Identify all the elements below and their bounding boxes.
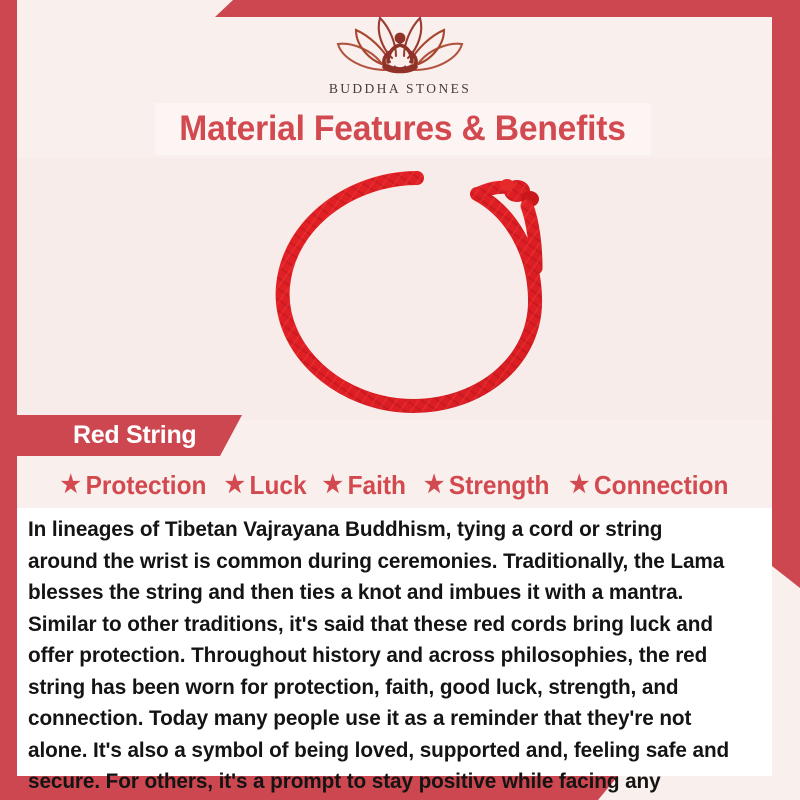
feature-list: ★ Protection ★ Luck ★ Faith ★ Strength ★… [17, 466, 772, 504]
feature-item-strength: ★ Strength [420, 470, 553, 501]
red-braided-string-bracelet-photo [249, 164, 589, 420]
star-icon: ★ [424, 473, 444, 497]
product-image [17, 158, 772, 420]
star-icon: ★ [569, 473, 589, 497]
feature-label: Luck [249, 470, 306, 501]
description-panel: In lineages of Tibetan Vajrayana Buddhis… [17, 508, 772, 776]
feature-label: Protection [85, 470, 206, 501]
star-icon: ★ [60, 473, 80, 497]
star-icon: ★ [224, 473, 244, 497]
feature-item-protection: ★ Protection [56, 470, 209, 501]
product-banner-label: Red String [73, 421, 196, 450]
product-banner: Red String [17, 415, 242, 456]
description-text: In lineages of Tibetan Vajrayana Buddhis… [28, 514, 737, 800]
feature-item-faith: ★ Faith [319, 470, 410, 501]
lotus-meditation-figure-icon [326, 14, 474, 80]
feature-item-luck: ★ Luck [221, 470, 310, 501]
feature-item-connection: ★ Connection [565, 470, 732, 501]
brand-name: BUDDHA STONES [329, 81, 471, 97]
feature-label: Strength [448, 470, 548, 501]
brand-logo: BUDDHA STONES [0, 14, 800, 97]
title-panel: Material Features & Benefits [155, 103, 651, 155]
feature-label: Faith [347, 470, 405, 501]
page-title: Material Features & Benefits [180, 109, 627, 149]
infographic-page: BUDDHA STONES Material Features & Benefi… [0, 0, 800, 800]
decorative-left-strip [0, 0, 17, 800]
star-icon: ★ [323, 473, 343, 497]
feature-label: Connection [594, 470, 728, 501]
